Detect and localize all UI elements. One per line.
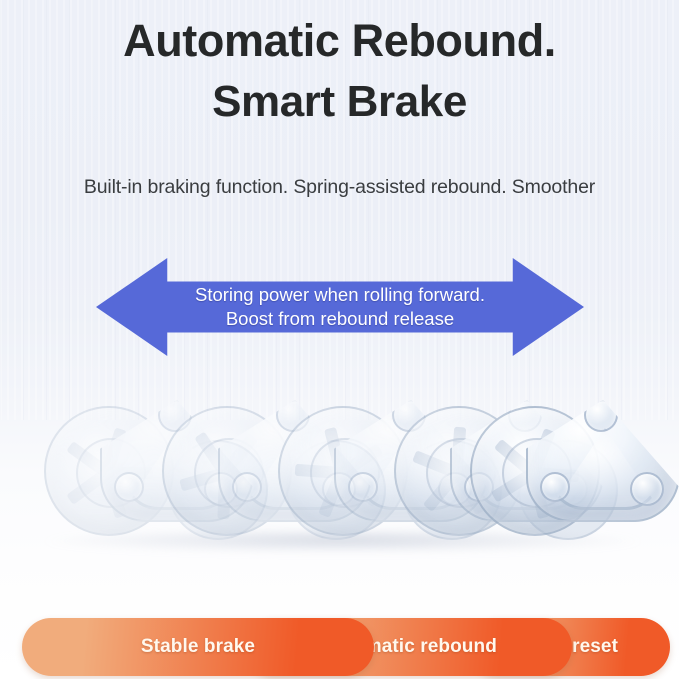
arrow-label-line-2: Boost from rebound release (226, 307, 454, 331)
promo-poster: Automatic Rebound. Smart Brake Built-in … (0, 0, 679, 679)
arrow-label-line-1: Storing power when rolling forward. (195, 283, 485, 307)
hub-top (584, 398, 618, 432)
headline-block: Automatic Rebound. Smart Brake (0, 18, 679, 124)
hub-left (540, 472, 570, 502)
hub-left (114, 472, 144, 502)
feature-pill-label: Stable brake (141, 636, 255, 658)
page-title-line-1: Automatic Rebound. (0, 18, 679, 63)
arrow-label-group: Storing power when rolling forward. Boos… (167, 282, 513, 333)
feature-pill-stable-brake[interactable]: Stable brake (22, 618, 374, 676)
subtitle-text: Built-in braking function. Spring-assist… (0, 176, 679, 199)
hub-left (232, 472, 262, 502)
page-title-line-2: Smart Brake (0, 80, 679, 124)
hub-left (348, 472, 378, 502)
feature-pill-bar: Stable brake Automatic rebound Easy rese… (0, 618, 679, 678)
product-image-stage (0, 380, 679, 570)
arrow-banner: Storing power when rolling forward. Boos… (96, 256, 584, 358)
hub-right (630, 472, 664, 506)
caster-wheel-icon (470, 396, 679, 536)
